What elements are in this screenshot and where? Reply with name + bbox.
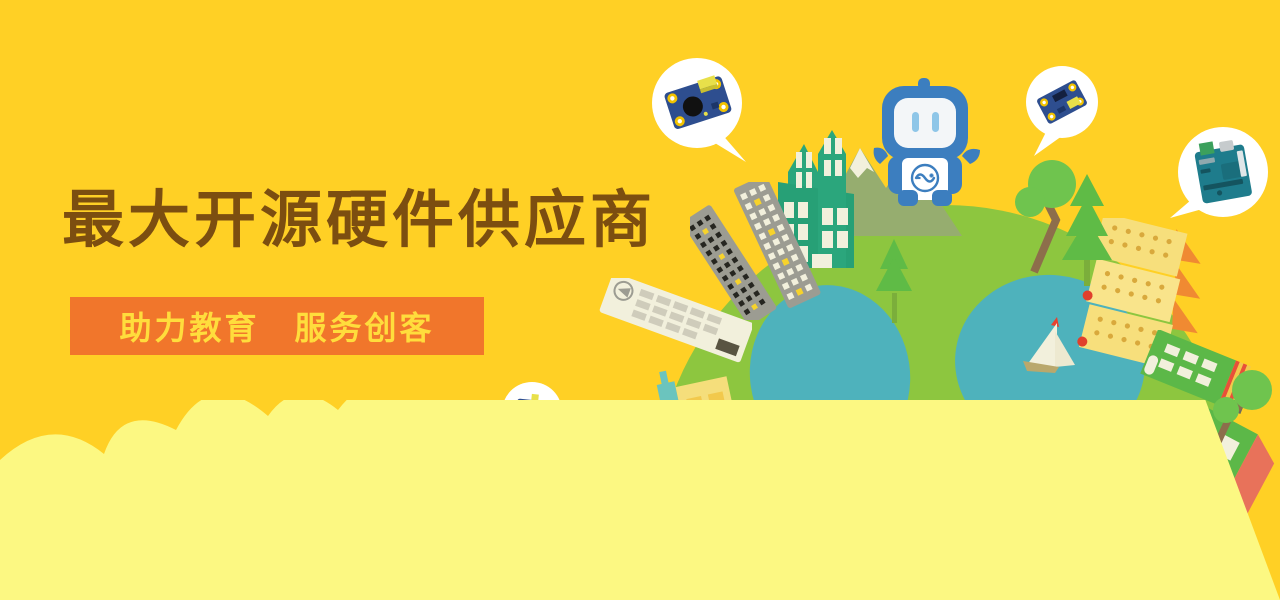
pine-tree-icon bbox=[1056, 170, 1120, 290]
hero-banner: 最大开源硬件供应商 助力教育 服务创客 bbox=[0, 0, 1280, 600]
bubble-small-module[interactable] bbox=[1018, 64, 1104, 158]
robot-face-screen bbox=[894, 98, 956, 148]
robot-eye-left bbox=[912, 112, 919, 132]
subtitle-text: 助力教育 服务创客 bbox=[119, 303, 434, 349]
cloud-band bbox=[0, 400, 1280, 600]
robot-leg-left bbox=[898, 190, 918, 206]
robot-eye-right bbox=[932, 112, 939, 132]
bubble-arduino-uno[interactable] bbox=[1168, 122, 1272, 230]
robot-mascot bbox=[866, 78, 984, 206]
robot-leg-right bbox=[932, 190, 952, 206]
cloud-shape bbox=[0, 400, 1280, 600]
robot-arm-right bbox=[962, 149, 980, 164]
subtitle-badge: 助力教育 服务创客 bbox=[70, 297, 484, 355]
page-title: 最大开源硬件供应商 bbox=[62, 185, 656, 254]
bubble-button-sensor[interactable] bbox=[650, 58, 754, 164]
